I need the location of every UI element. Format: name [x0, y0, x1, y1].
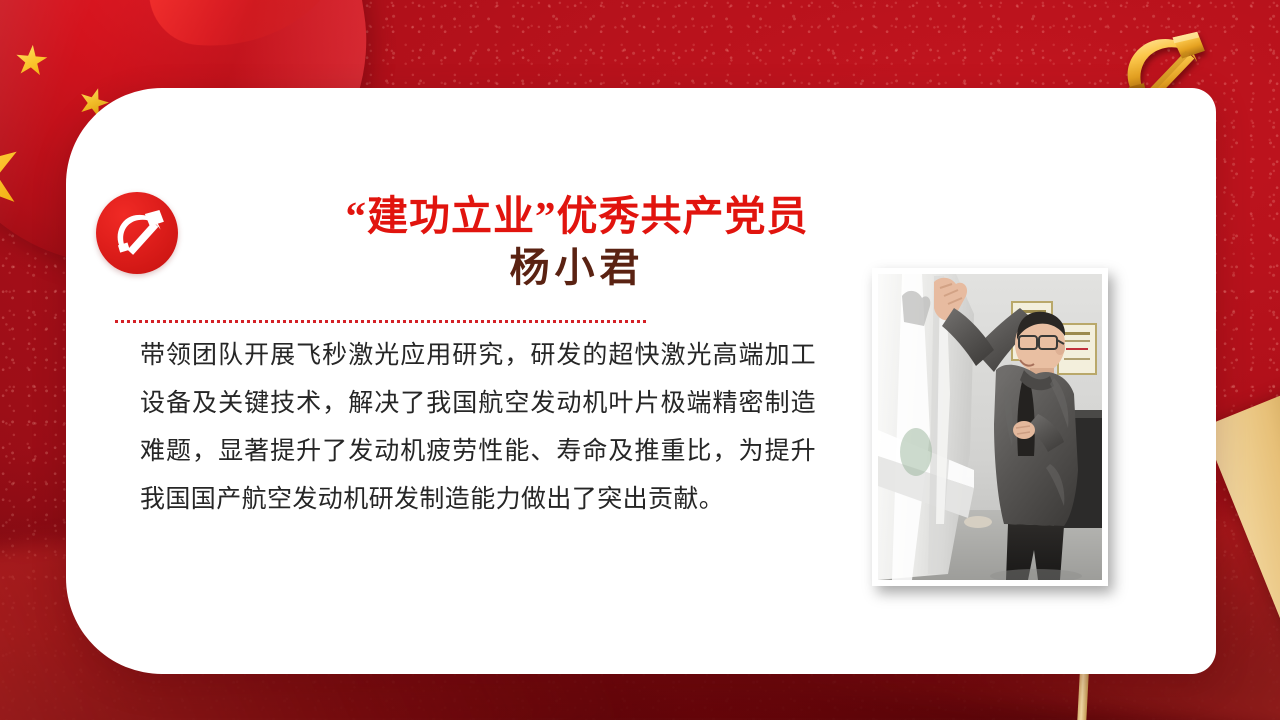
flag-tail	[146, 0, 353, 53]
person-name: 杨小君	[192, 240, 962, 296]
person-photo	[872, 268, 1108, 586]
dotted-divider	[115, 320, 647, 323]
flag-star-large-icon	[0, 123, 32, 226]
slide-root: “建功立业”优秀共产党员 杨小君 带领团队开展飞秒激光应用研究，研发的超快激光高…	[0, 0, 1280, 720]
description-paragraph: 带领团队开展飞秒激光应用研究，研发的超快激光高端加工设备及关键技术，解决了我国航…	[140, 331, 816, 523]
content-card: “建功立业”优秀共产党员 杨小君 带领团队开展飞秒激光应用研究，研发的超快激光高…	[66, 88, 1216, 674]
title-block: “建功立业”优秀共产党员 杨小君	[192, 192, 962, 296]
person-photo-image	[878, 274, 1102, 580]
page-title: “建功立业”优秀共产党员	[192, 192, 962, 240]
flag-star-small-1-icon	[14, 43, 49, 78]
party-emblem-icon	[96, 192, 178, 274]
